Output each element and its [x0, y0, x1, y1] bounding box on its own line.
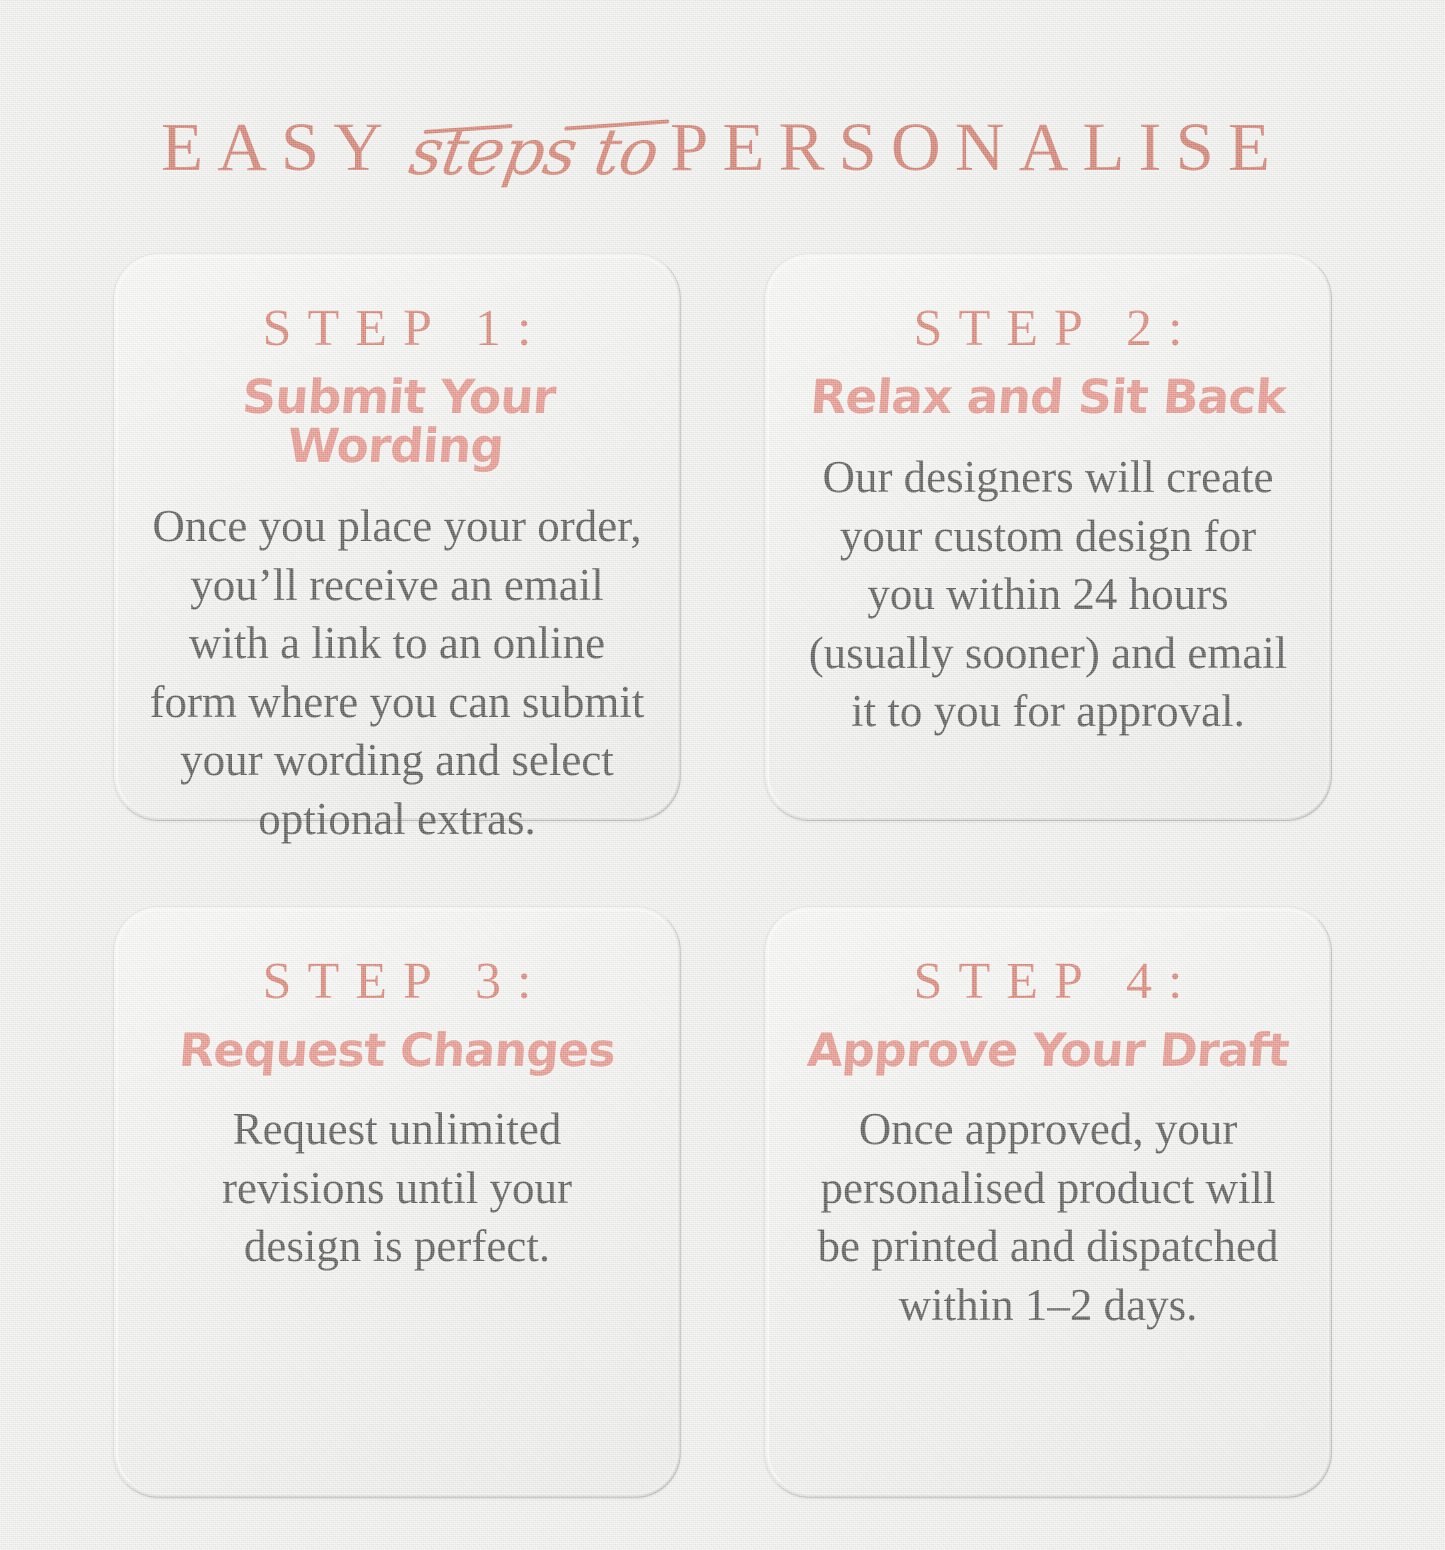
step-4-title: Approve Your Draft [792, 1026, 1303, 1074]
infographic-page: EASYsteps toPERSONALISE STEP 1: Submit Y… [0, 0, 1445, 1550]
step-3-label: STEP 3: [143, 952, 651, 1012]
step-card-3: STEP 3: Request Changes Request unlimite… [113, 906, 681, 1498]
step-4-label: STEP 4: [794, 952, 1302, 1012]
step-3-body: Request unlimited revisions until your d… [143, 1100, 651, 1276]
step-card-1: STEP 1: Submit Your Wording Once you pla… [113, 253, 681, 821]
step-4-body: Once approved, your personalised product… [794, 1100, 1302, 1334]
step-3-title: Request Changes [141, 1026, 652, 1074]
step-1-body: Once you place your order, you’ll receiv… [143, 497, 651, 848]
step-card-2: STEP 2: Relax and Sit Back Our designers… [764, 253, 1332, 821]
step-1-label: STEP 1: [143, 299, 651, 359]
title-word-easy: EASY [161, 109, 397, 185]
page-title: EASYsteps toPERSONALISE [0, 113, 1445, 182]
step-2-body: Our designers will create your custom de… [794, 448, 1302, 741]
title-word-personalise: PERSONALISE [670, 109, 1284, 185]
step-2-label: STEP 2: [794, 299, 1302, 359]
steps-grid: STEP 1: Submit Your Wording Once you pla… [113, 253, 1333, 1498]
step-1-title: Submit Your Wording [140, 373, 655, 472]
title-script-steps-to: steps to [405, 121, 662, 185]
step-card-4: STEP 4: Approve Your Draft Once approved… [764, 906, 1332, 1498]
step-2-title: Relax and Sit Back [792, 373, 1303, 422]
